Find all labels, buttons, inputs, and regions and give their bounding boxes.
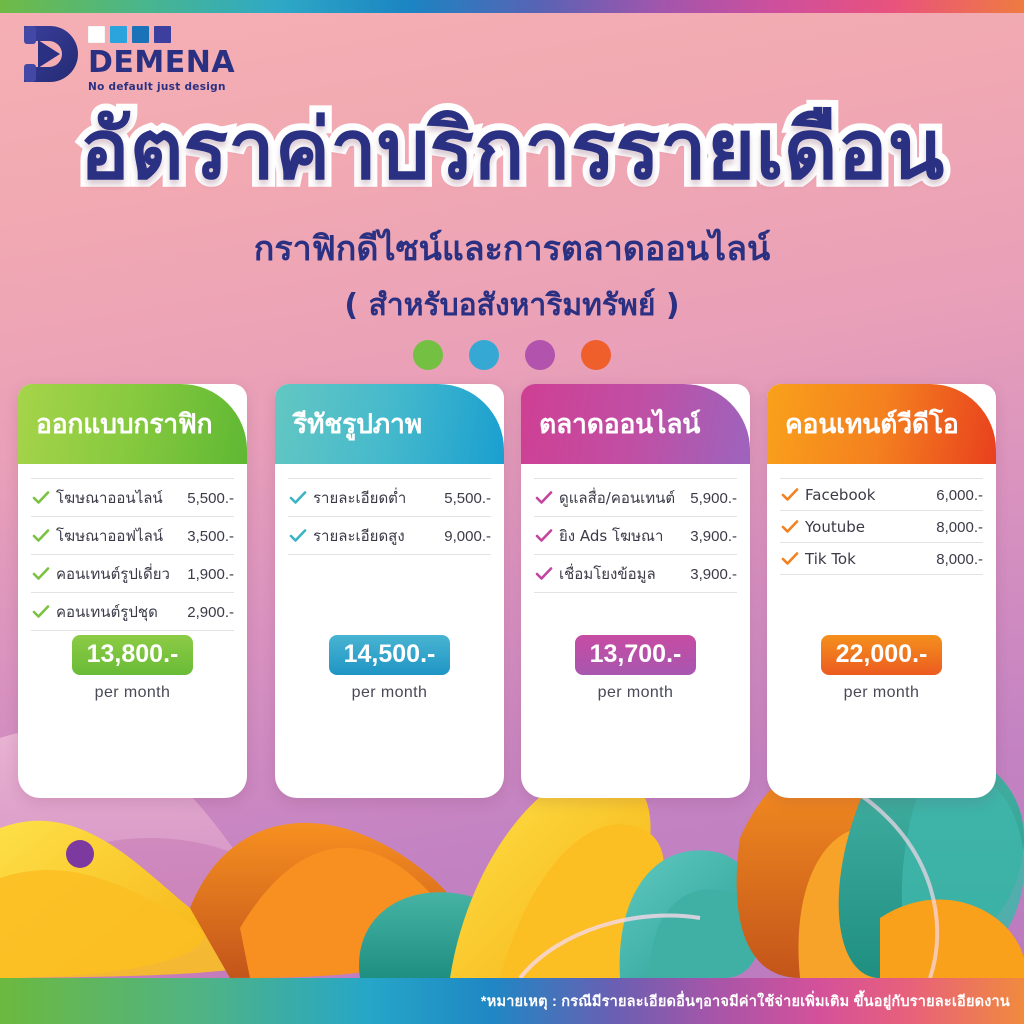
list-item: คอนเทนต์รูปชุด 2,900.- <box>31 592 234 631</box>
list-item-price: 6,000.- <box>936 487 983 504</box>
list-item: Tik Tok 8,000.- <box>780 542 983 575</box>
check-icon <box>534 567 554 581</box>
list-item-price: 3,900.- <box>690 566 737 583</box>
card-header: ออกแบบกราฟิก <box>18 384 247 464</box>
card-header: ตลาดออนไลน์ <box>521 384 750 464</box>
list-item-label: รายละเอียดสูง <box>313 524 444 548</box>
list-item: ดูแลสื่อ/คอนเทนต์ 5,900.- <box>534 478 737 516</box>
list-item-price: 9,000.- <box>444 528 491 545</box>
pricing-card-photo-retouch[interactable]: รีทัชรูปภาพ รายละเอียดต่ำ 5,500.- รายละเ… <box>275 384 504 798</box>
brand-tagline: No default just design <box>88 81 235 93</box>
check-icon <box>780 552 800 566</box>
brand-logo: DEMENA No default just design <box>18 20 235 93</box>
check-icon <box>31 567 51 581</box>
logo-square-3 <box>132 26 149 43</box>
list-item-label: รายละเอียดต่ำ <box>313 486 444 510</box>
pricing-cards: ออกแบบกราฟิก โฆษณาออนไลน์ 5,500.- โฆษณาอ… <box>0 384 1024 804</box>
check-icon <box>534 529 554 543</box>
card-header: รีทัชรูปภาพ <box>275 384 504 464</box>
page-subtitle-secondary: ( สำหรับอสังหาริมทรัพย์ ) <box>0 282 1024 329</box>
card-footer: 14,500.- per month <box>275 635 504 720</box>
check-icon <box>31 529 51 543</box>
billing-period-label: per month <box>767 684 996 702</box>
card-title: คอนเทนต์วีดีโอ <box>767 403 959 445</box>
list-item: รายละเอียดสูง 9,000.- <box>288 516 491 555</box>
list-item-price: 3,500.- <box>187 528 234 545</box>
deco-dot-purple <box>66 840 94 868</box>
list-item-price: 5,500.- <box>444 490 491 507</box>
list-item-price: 8,000.- <box>936 551 983 568</box>
list-item-price: 3,900.- <box>690 528 737 545</box>
billing-period-label: per month <box>275 684 504 702</box>
card-title: ออกแบบกราฟิก <box>18 403 212 445</box>
demena-d-logo-icon <box>18 20 80 88</box>
list-item: Facebook 6,000.- <box>780 478 983 510</box>
list-item-label: โฆษณาออนไลน์ <box>56 486 187 510</box>
list-item: โฆษณาออนไลน์ 5,500.- <box>31 478 234 516</box>
list-item-label: Tik Tok <box>805 550 936 568</box>
dot-4 <box>581 340 611 370</box>
pricing-card-online-marketing[interactable]: ตลาดออนไลน์ ดูแลสื่อ/คอนเทนต์ 5,900.- ยิ… <box>521 384 750 798</box>
logo-square-4 <box>154 26 171 43</box>
check-icon <box>31 491 51 505</box>
card-footer: 13,700.- per month <box>521 635 750 720</box>
list-item-label: โฆษณาออฟไลน์ <box>56 524 187 548</box>
list-item-price: 2,900.- <box>187 604 234 621</box>
card-header: คอนเทนต์วีดีโอ <box>767 384 996 464</box>
list-item-label: ดูแลสื่อ/คอนเทนต์ <box>559 486 690 510</box>
card-feature-list: Facebook 6,000.- Youtube 8,000.- Tik Tok… <box>767 464 996 575</box>
card-title: รีทัชรูปภาพ <box>275 403 422 445</box>
list-item-price: 1,900.- <box>187 566 234 583</box>
list-item-price: 8,000.- <box>936 519 983 536</box>
check-icon <box>288 529 308 543</box>
card-footer: 13,800.- per month <box>18 635 247 720</box>
list-item-price: 5,500.- <box>187 490 234 507</box>
list-item: คอนเทนต์รูปเดี่ยว 1,900.- <box>31 554 234 592</box>
total-price-badge: 13,800.- <box>72 635 194 675</box>
pricing-card-graphic-design[interactable]: ออกแบบกราฟิก โฆษณาออนไลน์ 5,500.- โฆษณาอ… <box>18 384 247 798</box>
list-item-label: คอนเทนต์รูปชุด <box>56 600 187 624</box>
logo-color-squares <box>88 26 235 43</box>
card-title: ตลาดออนไลน์ <box>521 403 700 445</box>
card-feature-list: ดูแลสื่อ/คอนเทนต์ 5,900.- ยิง Ads โฆษณา … <box>521 464 750 593</box>
list-item-label: ยิง Ads โฆษณา <box>559 524 690 548</box>
page-subtitle: กราฟิกดีไซน์และการตลาดออนไลน์ <box>0 228 1024 272</box>
list-item: โฆษณาออฟไลน์ 3,500.- <box>31 516 234 554</box>
list-item-label: Facebook <box>805 486 936 504</box>
list-item-label: เชื่อมโยงข้อมูล <box>559 562 690 586</box>
check-icon <box>534 491 554 505</box>
check-icon <box>780 520 800 534</box>
check-icon <box>288 491 308 505</box>
dot-1 <box>413 340 443 370</box>
total-price-badge: 14,500.- <box>329 635 451 675</box>
check-icon <box>31 605 51 619</box>
footer-note: *หมายเหตุ : กรณีมีรายละเอียดอื่นๆอาจมีค่… <box>481 990 1024 1013</box>
total-price-badge: 22,000.- <box>821 635 943 675</box>
card-feature-list: โฆษณาออนไลน์ 5,500.- โฆษณาออฟไลน์ 3,500.… <box>18 464 247 631</box>
check-icon <box>780 488 800 502</box>
billing-period-label: per month <box>521 684 750 702</box>
list-item: Youtube 8,000.- <box>780 510 983 542</box>
dot-3 <box>525 340 555 370</box>
card-footer: 22,000.- per month <box>767 635 996 720</box>
dot-2 <box>469 340 499 370</box>
card-feature-list: รายละเอียดต่ำ 5,500.- รายละเอียดสูง 9,00… <box>275 464 504 555</box>
pricing-card-video-content[interactable]: คอนเทนต์วีดีโอ Facebook 6,000.- Youtube … <box>767 384 996 798</box>
decorative-dots <box>0 340 1024 370</box>
logo-square-1 <box>88 26 105 43</box>
top-gradient-strip <box>0 0 1024 13</box>
list-item: ยิง Ads โฆษณา 3,900.- <box>534 516 737 554</box>
list-item: เชื่อมโยงข้อมูล 3,900.- <box>534 554 737 593</box>
page-title: อัตราค่าบริการรายเดือน <box>0 108 1024 191</box>
logo-square-2 <box>110 26 127 43</box>
bottom-gradient-strip: *หมายเหตุ : กรณีมีรายละเอียดอื่นๆอาจมีค่… <box>0 978 1024 1024</box>
list-item-label: คอนเทนต์รูปเดี่ยว <box>56 562 187 586</box>
list-item-label: Youtube <box>805 518 936 536</box>
brand-name: DEMENA <box>88 48 235 78</box>
total-price-badge: 13,700.- <box>575 635 697 675</box>
list-item-price: 5,900.- <box>690 490 737 507</box>
pricing-infographic: DEMENA No default just design อัตราค่าบร… <box>0 0 1024 1024</box>
list-item: รายละเอียดต่ำ 5,500.- <box>288 478 491 516</box>
billing-period-label: per month <box>18 684 247 702</box>
